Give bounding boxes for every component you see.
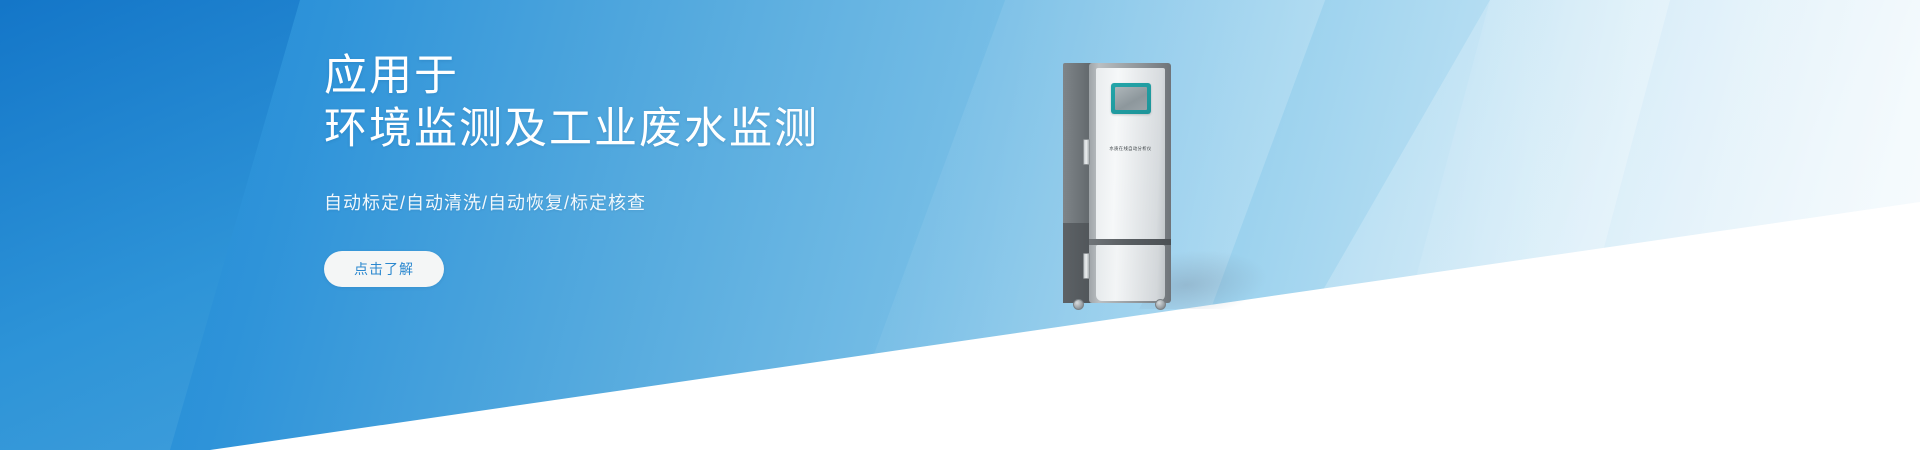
caster-wheel-left: [1073, 299, 1084, 310]
learn-more-button[interactable]: 点击了解: [324, 251, 444, 287]
display-screen: [1115, 87, 1147, 110]
hero-banner: 应用于 环境监测及工业废水监测 自动标定/自动清洗/自动恢复/标定核查 点击了解…: [0, 0, 1920, 450]
headline-line-2: 环境监测及工业废水监测: [324, 103, 1084, 156]
upper-door-handle: [1083, 139, 1090, 165]
product-panel-label: 水质在线自动分析仪: [1095, 146, 1165, 152]
lower-door-handle: [1083, 253, 1090, 279]
banner-subtitle: 自动标定/自动清洗/自动恢复/标定核查: [324, 189, 1084, 215]
cabinet-upper-door: 水质在线自动分析仪: [1096, 68, 1165, 240]
analyzer-product-image: 水质在线自动分析仪: [1063, 63, 1171, 313]
banner-copy: 应用于 环境监测及工业废水监测 自动标定/自动清洗/自动恢复/标定核查 点击了解: [324, 50, 1084, 287]
cabinet-lower-door: [1096, 245, 1165, 301]
caster-wheel-right: [1155, 299, 1166, 310]
display-bezel: [1111, 83, 1151, 114]
headline-line-1: 应用于: [324, 50, 1084, 103]
